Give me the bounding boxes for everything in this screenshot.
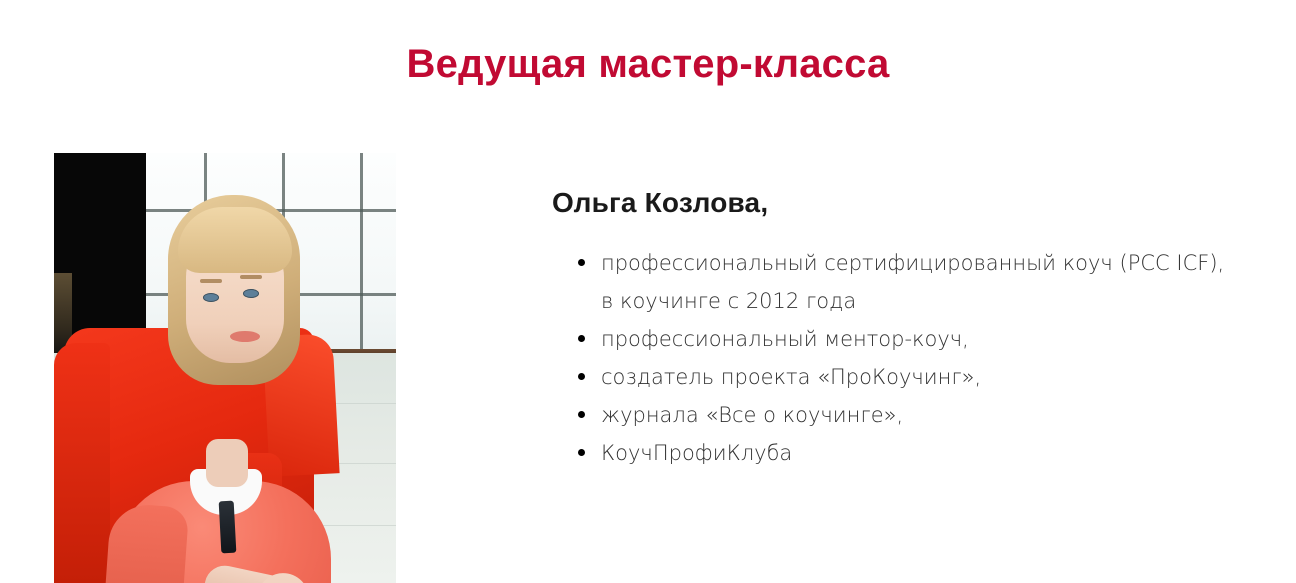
photo-floor-line xyxy=(322,525,396,526)
page-title: Ведущая мастер-класса xyxy=(0,40,1296,88)
credential-text: КоучПрофиКлуба xyxy=(601,441,792,465)
list-item: профессиональный ментор-коуч, xyxy=(552,320,1242,358)
credential-text: создатель проекта «ПроКоучинг», xyxy=(601,365,981,389)
photo-hair-front xyxy=(178,207,292,273)
photo-armchair-wing-left xyxy=(54,343,110,583)
photo-eye-left xyxy=(203,293,219,302)
speaker-name: Ольга Козлова, xyxy=(552,186,1242,220)
bullet-icon xyxy=(578,335,585,342)
bullet-icon xyxy=(578,259,585,266)
credentials-list: профессиональный сертифицированный коуч … xyxy=(552,244,1242,472)
photo-neck xyxy=(206,439,248,487)
list-item: создатель проекта «ПроКоучинг», xyxy=(552,358,1242,396)
speaker-photo-image xyxy=(54,153,396,583)
bullet-icon xyxy=(578,449,585,456)
bullet-icon xyxy=(578,411,585,418)
bullet-icon xyxy=(578,373,585,380)
photo-window-mullion xyxy=(360,153,363,363)
credential-text: журнала «Все о коучинге», xyxy=(601,403,903,427)
list-item: журнала «Все о коучинге», xyxy=(552,396,1242,434)
speaker-bio: Ольга Козлова, профессиональный сертифиц… xyxy=(552,153,1242,472)
photo-lips xyxy=(230,331,260,342)
credential-text: профессиональный сертифицированный коуч … xyxy=(601,251,1224,313)
list-item: КоучПрофиКлуба xyxy=(552,434,1242,472)
photo-eyebrow-left xyxy=(200,279,222,283)
speaker-photo xyxy=(54,153,396,583)
credential-text: профессиональный ментор-коуч, xyxy=(601,327,969,351)
photo-eyebrow-right xyxy=(240,275,262,279)
photo-necktie xyxy=(219,501,237,554)
list-item: профессиональный сертифицированный коуч … xyxy=(552,244,1242,320)
photo-eye-right xyxy=(243,289,259,298)
speaker-section: Ольга Козлова, профессиональный сертифиц… xyxy=(0,153,1296,583)
